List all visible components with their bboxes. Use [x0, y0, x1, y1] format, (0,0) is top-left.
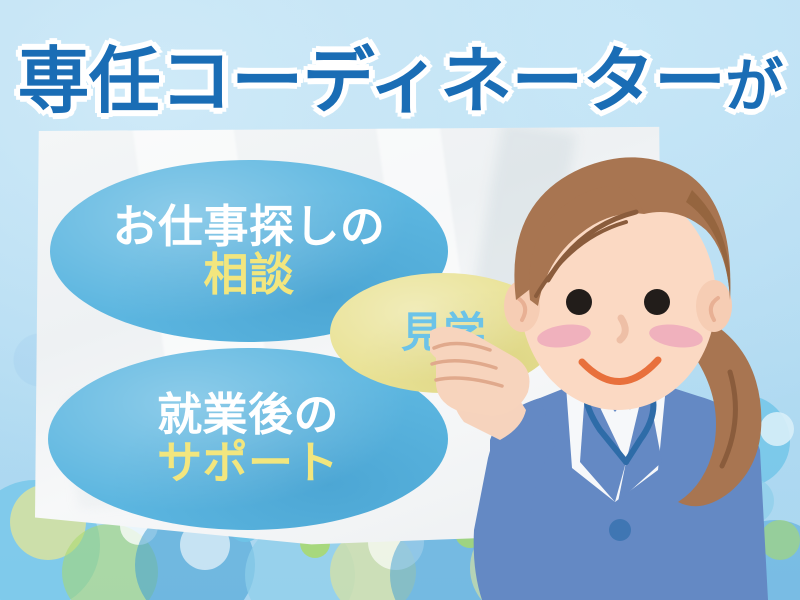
ellipse-consultation-line2: 相談 — [204, 252, 295, 298]
ellipse-support-line1: 就業後の — [157, 392, 339, 438]
coordinator-woman — [430, 110, 800, 600]
hand — [430, 327, 530, 416]
eye-left — [566, 289, 592, 315]
ear-right — [696, 280, 732, 332]
eye-right — [644, 289, 670, 315]
ellipse-support-line2: サポート — [157, 440, 339, 486]
banner-canvas: お仕事探しの 相談 就業後の サポート 見学 — [0, 0, 800, 600]
headline-particle: が — [725, 54, 782, 119]
suit-button — [609, 519, 631, 541]
page-title: 専任コーディネーターが — [0, 22, 800, 127]
ellipse-consultation-line1: お仕事探しの — [113, 204, 386, 250]
headline-main: 専任コーディネーター — [17, 42, 725, 122]
